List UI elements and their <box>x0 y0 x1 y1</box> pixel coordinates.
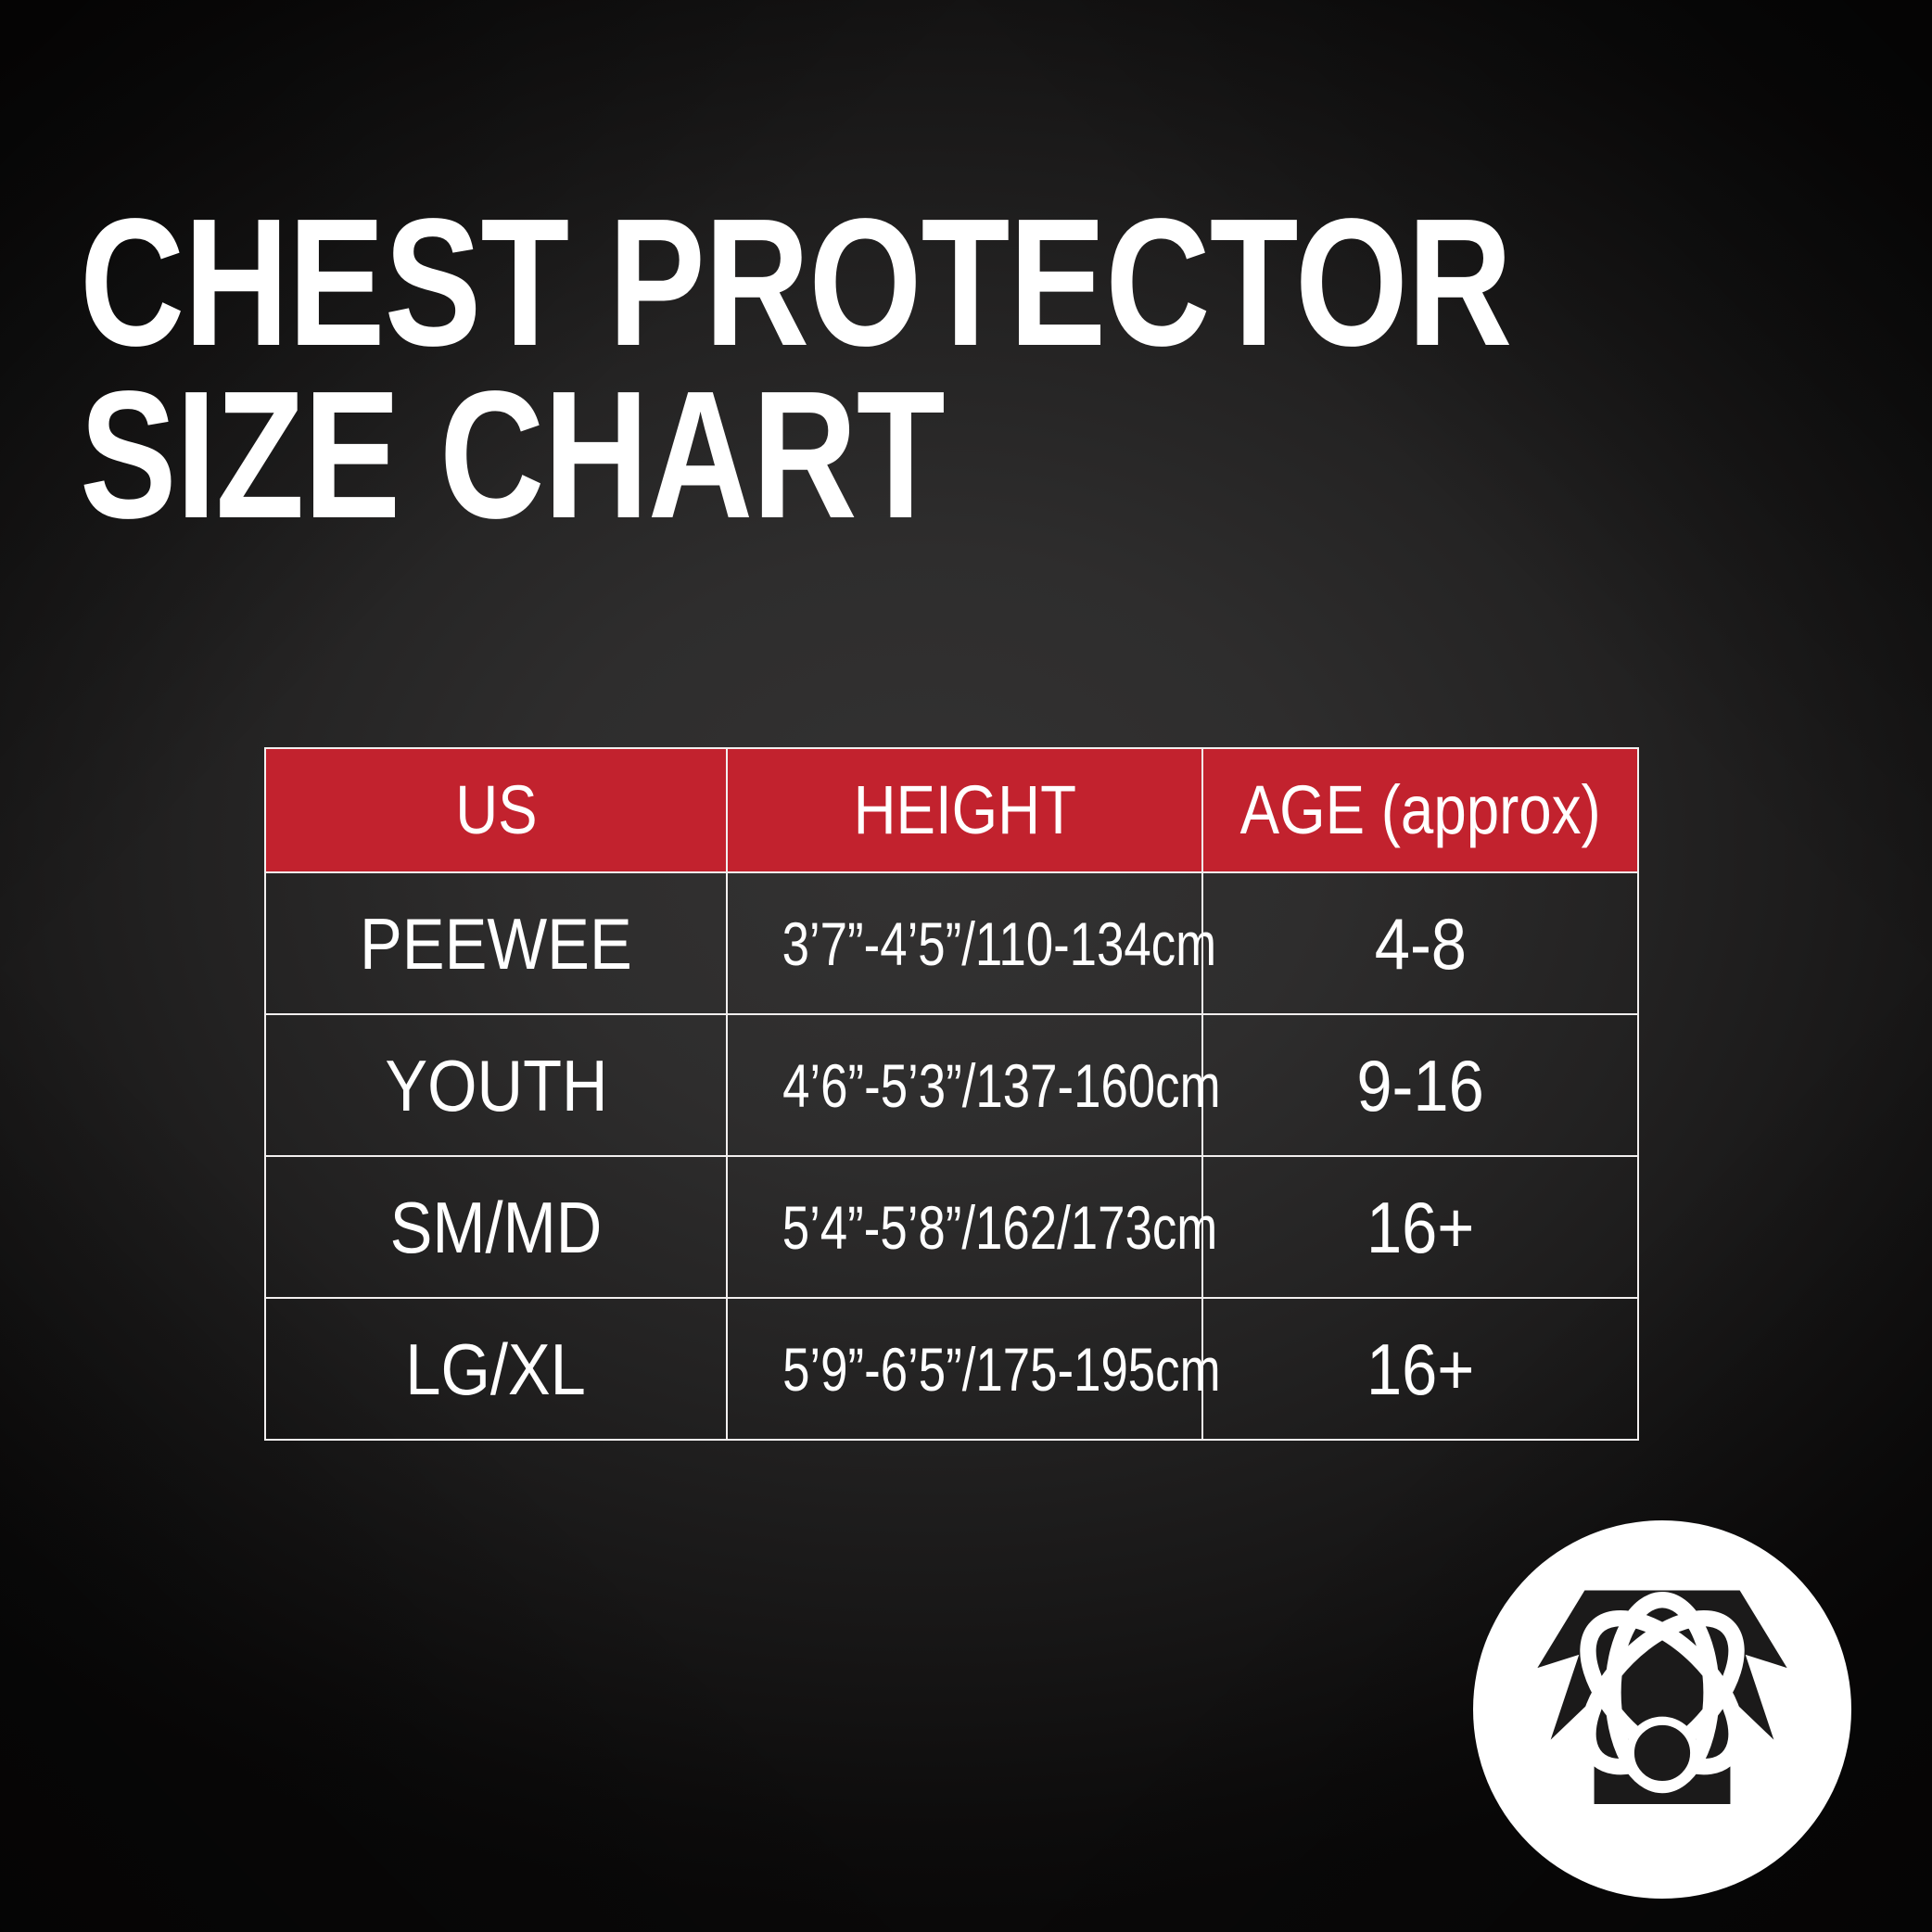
table-row: SM/MD 5’4”-5’8”/162/173cm 16+ <box>265 1156 1638 1298</box>
table-row: LG/XL 5’9”-6’5”/175-195cm 16+ <box>265 1298 1638 1440</box>
cell-us: SM/MD <box>265 1156 727 1298</box>
table-header-row: US HEIGHT AGE (approx) <box>265 748 1638 872</box>
cell-age: 9-16 <box>1202 1014 1638 1156</box>
column-header-height: HEIGHT <box>727 748 1202 872</box>
cell-height: 5’9”-6’5”/175-195cm <box>727 1298 1202 1440</box>
cell-us-value: LG/XL <box>406 1333 587 1405</box>
column-header-us-label: US <box>455 776 537 845</box>
cell-height-value: 4’6”-5’3”/137-160cm <box>782 1055 1221 1116</box>
cell-us-value: SM/MD <box>390 1191 603 1264</box>
cell-height: 4’6”-5’3”/137-160cm <box>727 1014 1202 1156</box>
title-line-1: CHEST PROTECTOR <box>80 206 1192 360</box>
page-title: CHEST PROTECTOR SIZE CHART <box>80 206 1470 532</box>
table-row: PEEWEE 3’7”-4’5”/110-134cm 4-8 <box>265 872 1638 1014</box>
table-row: YOUTH 4’6”-5’3”/137-160cm 9-16 <box>265 1014 1638 1156</box>
cell-us: YOUTH <box>265 1014 727 1156</box>
cell-height: 5’4”-5’8”/162/173cm <box>727 1156 1202 1298</box>
cell-age: 16+ <box>1202 1298 1638 1440</box>
size-chart-poster: CHEST PROTECTOR SIZE CHART US HEIGHT AGE… <box>0 0 1932 1932</box>
cell-age: 4-8 <box>1202 872 1638 1014</box>
cell-age-value: 16+ <box>1366 1191 1474 1264</box>
table-header: US HEIGHT AGE (approx) <box>265 748 1638 872</box>
cell-age-value: 9-16 <box>1356 1049 1483 1122</box>
column-header-height-label: HEIGHT <box>853 776 1075 845</box>
title-line-2: SIZE CHART <box>80 378 1192 532</box>
column-header-us: US <box>265 748 727 872</box>
cell-us: PEEWEE <box>265 872 727 1014</box>
cell-us: LG/XL <box>265 1298 727 1440</box>
size-chart-table: US HEIGHT AGE (approx) PEEWEE 3’7”-4’5”/… <box>264 747 1639 1441</box>
cell-us-value: YOUTH <box>385 1049 607 1122</box>
cell-height-value: 3’7”-4’5”/110-134cm <box>782 913 1217 974</box>
cell-age: 16+ <box>1202 1156 1638 1298</box>
column-header-age-label: AGE (approx) <box>1239 776 1600 845</box>
column-header-age: AGE (approx) <box>1202 748 1638 872</box>
cell-height-value: 5’4”-5’8”/162/173cm <box>782 1197 1218 1258</box>
cell-height: 3’7”-4’5”/110-134cm <box>727 872 1202 1014</box>
table-body: PEEWEE 3’7”-4’5”/110-134cm 4-8 YOUTH 4’6… <box>265 872 1638 1440</box>
cell-us-value: PEEWEE <box>360 908 632 980</box>
cell-age-value: 4-8 <box>1374 908 1466 980</box>
cell-height-value: 5’9”-6’5”/175-195cm <box>782 1339 1221 1400</box>
cell-age-value: 16+ <box>1366 1333 1474 1405</box>
atom-crown-logo-icon <box>1473 1520 1851 1899</box>
